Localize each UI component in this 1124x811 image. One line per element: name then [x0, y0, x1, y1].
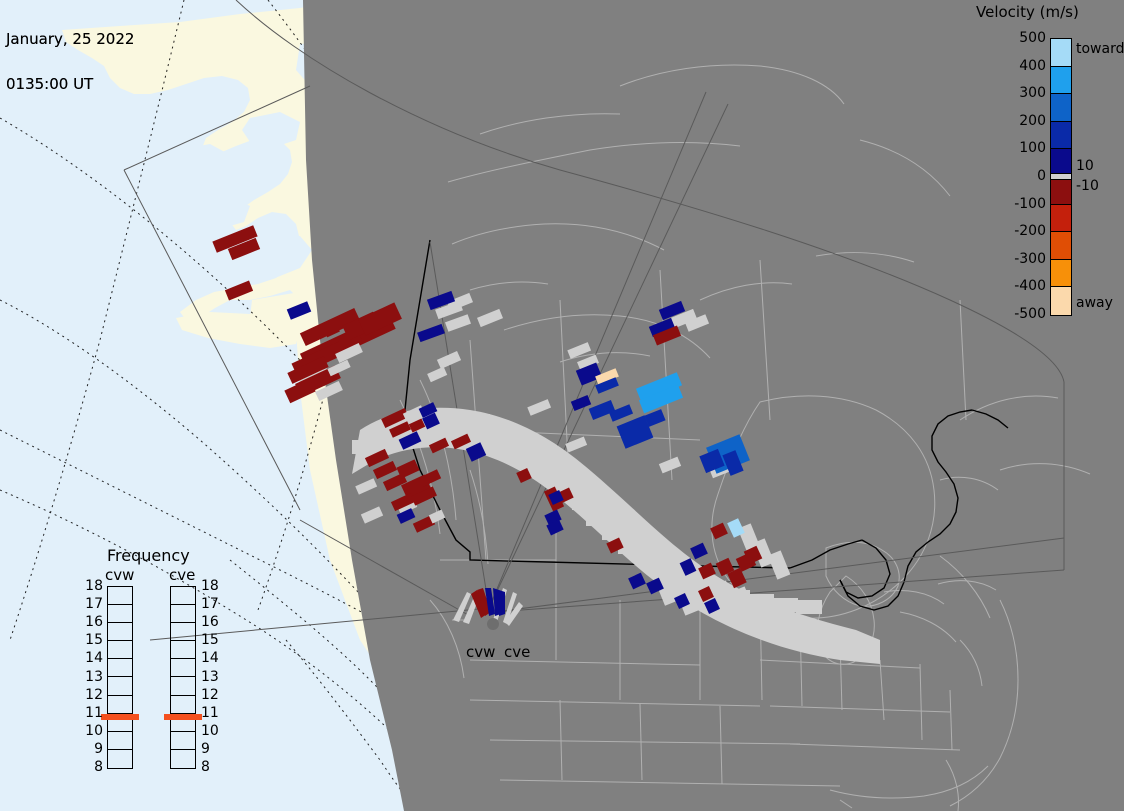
- frequency-tick-right: 8: [201, 759, 210, 775]
- frequency-tick-right: 9: [201, 741, 210, 757]
- colorbar-tick-label: 300: [980, 85, 1046, 101]
- colorbar-tick-label: 0: [980, 168, 1046, 184]
- frequency-segment: [108, 623, 132, 641]
- frequency-segment: [171, 605, 195, 623]
- frequency-tick-left: 11: [85, 705, 103, 721]
- colorbar-tick-label: -200: [980, 223, 1046, 239]
- frequency-bar-cvw: [107, 586, 133, 769]
- frequency-segment: [171, 623, 195, 641]
- frequency-segment: [108, 750, 132, 768]
- frequency-segment: [108, 587, 132, 605]
- frequency-tick-left: 8: [85, 759, 103, 775]
- frequency-tick-left: 12: [85, 687, 103, 703]
- frequency-tick-right: 18: [201, 578, 219, 594]
- frequency-tick-right: 12: [201, 687, 219, 703]
- title-date: January, 25 2022: [6, 32, 134, 47]
- colorbar-tick-label: -300: [980, 251, 1046, 267]
- frequency-tick-left: 14: [85, 650, 103, 666]
- colorbar-segment: [1051, 122, 1071, 150]
- colorbar-segment: [1051, 39, 1071, 67]
- colorbar-gs-lower-label: -10: [1076, 178, 1099, 194]
- frequency-tick-left: 16: [85, 614, 103, 630]
- frequency-segment: [108, 605, 132, 623]
- title-time: 0135:00 UT: [6, 77, 134, 92]
- colorbar-segment: [1051, 67, 1071, 95]
- colorbar-segment: [1051, 94, 1071, 122]
- frequency-tick-left: 9: [85, 741, 103, 757]
- frequency-segment: [171, 696, 195, 714]
- frequency-segment: [108, 641, 132, 659]
- frequency-segment: [108, 696, 132, 714]
- frequency-title: Frequency: [107, 546, 190, 565]
- colorbar-tick-label: 500: [980, 30, 1046, 46]
- frequency-tick-right: 17: [201, 596, 219, 612]
- frequency-segment: [108, 659, 132, 677]
- frequency-tick-right: 13: [201, 669, 219, 685]
- colorbar-segment: [1051, 287, 1071, 315]
- velocity-colorbar-panel: Velocity (m/s) 5004003002001000-100-200-…: [970, 0, 1124, 340]
- frequency-tick-right: 11: [201, 705, 219, 721]
- frequency-tick-right: 15: [201, 632, 219, 648]
- station-label-cve: cve: [504, 643, 530, 661]
- frequency-segment: [171, 587, 195, 605]
- title-block: January, 25 2022 0135:00 UT: [6, 2, 134, 122]
- frequency-marker-cvw: [101, 714, 139, 720]
- colorbar-segment: [1051, 149, 1071, 174]
- colorbar-segment: [1051, 260, 1071, 288]
- radar-velocity-map: January, 25 2022 0135:00 UT Velocity (m/…: [0, 0, 1124, 811]
- frequency-bar-cve: [170, 586, 196, 769]
- colorbar-segment: [1051, 232, 1071, 260]
- colorbar-tick-label: -400: [980, 278, 1046, 294]
- frequency-tick-right: 10: [201, 723, 219, 739]
- colorbar-gradient: [1050, 38, 1072, 316]
- colorbar-segment: [1051, 180, 1071, 205]
- colorbar-tick-label: 400: [980, 58, 1046, 74]
- frequency-segment: [171, 750, 195, 768]
- frequency-tick-left: 18: [85, 578, 103, 594]
- frequency-tick-right: 16: [201, 614, 219, 630]
- colorbar-gs-upper-label: 10: [1076, 158, 1094, 174]
- station-label-cvw: cvw: [466, 643, 495, 661]
- frequency-tick-left: 15: [85, 632, 103, 648]
- colorbar-toward-label: toward: [1076, 41, 1124, 57]
- colorbar-segment: [1051, 205, 1071, 233]
- frequency-segment: [171, 659, 195, 677]
- colorbar-tick-label: 100: [980, 140, 1046, 156]
- frequency-column-label-cve: cve: [169, 566, 195, 584]
- colorbar-title: Velocity (m/s): [976, 3, 1124, 21]
- frequency-tick-left: 10: [85, 723, 103, 739]
- frequency-segment: [171, 732, 195, 750]
- frequency-marker-cve: [164, 714, 202, 720]
- colorbar-tick-label: -500: [980, 306, 1046, 322]
- frequency-tick-left: 17: [85, 596, 103, 612]
- colorbar-tick-label: -100: [980, 196, 1046, 212]
- frequency-segment: [108, 732, 132, 750]
- colorbar-away-label: away: [1076, 295, 1113, 311]
- frequency-column-label-cvw: cvw: [105, 566, 134, 584]
- colorbar-tick-label: 200: [980, 113, 1046, 129]
- frequency-segment: [171, 641, 195, 659]
- frequency-panel: Frequency cvwcve181817171616151514141313…: [85, 546, 235, 791]
- frequency-segment: [171, 677, 195, 695]
- frequency-tick-left: 13: [85, 669, 103, 685]
- frequency-segment: [108, 677, 132, 695]
- frequency-tick-right: 14: [201, 650, 219, 666]
